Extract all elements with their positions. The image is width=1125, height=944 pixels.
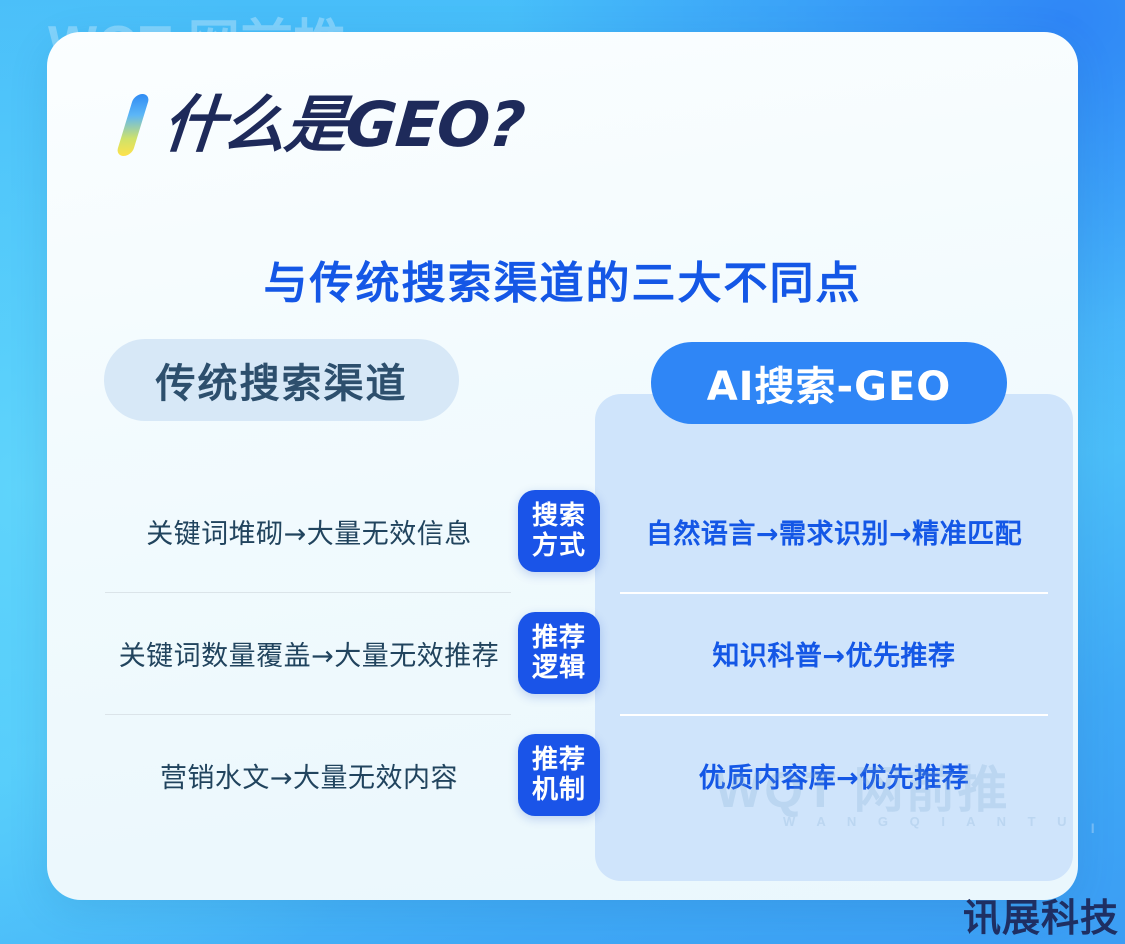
brand-logo: 讯展科技 <box>963 887 1119 942</box>
page-title: 什么是GEO? <box>125 94 524 156</box>
category-badge-recommend-logic: 推荐 逻辑 <box>518 612 600 694</box>
traditional-value: 关键词数量覆盖→大量无效推荐 <box>83 592 535 714</box>
traditional-value: 关键词堆砌→大量无效信息 <box>83 470 535 592</box>
geo-value: 自然语言→需求识别→精准匹配 <box>599 470 1069 592</box>
page-title-text: 什么是GEO? <box>160 94 526 156</box>
category-badge-line2: 机制 <box>532 776 586 804</box>
geo-value: 优质内容库→优先推荐 <box>599 714 1069 836</box>
geo-value: 知识科普→优先推荐 <box>599 592 1069 714</box>
category-badge-line1: 搜索 <box>532 502 586 530</box>
column-header-traditional: 传统搜索渠道 <box>104 339 459 421</box>
traditional-value: 营销水文→大量无效内容 <box>83 714 535 836</box>
page-subtitle: 与传统搜索渠道的三大不同点 <box>47 247 1078 311</box>
slash-accent-icon <box>116 94 151 156</box>
content-card: WQT 网前推 W A N G Q I A N T U I 什么是GEO? 与传… <box>47 32 1078 900</box>
category-badge-line1: 推荐 <box>532 746 586 774</box>
category-badge-search-method: 搜索 方式 <box>518 490 600 572</box>
column-header-geo: AI搜索-GEO <box>651 342 1007 424</box>
category-badge-line2: 逻辑 <box>532 654 586 682</box>
category-badge-line2: 方式 <box>532 532 586 560</box>
category-badge-line1: 推荐 <box>532 624 586 652</box>
category-badge-recommend-mechanism: 推荐 机制 <box>518 734 600 816</box>
